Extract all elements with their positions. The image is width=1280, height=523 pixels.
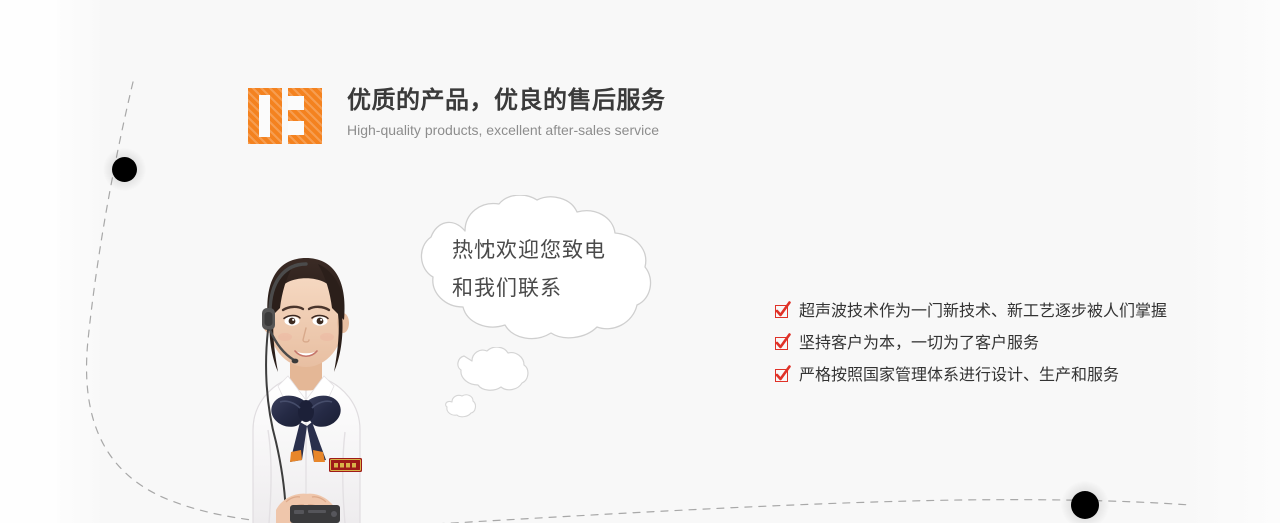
feature-label: 坚持客户为本，一切为了客户服务: [799, 333, 1039, 355]
section-subtitle: High-quality products, excellent after-s…: [347, 121, 666, 139]
section-heading: 优质的产品，优良的售后服务 High-quality products, exc…: [248, 86, 666, 144]
customer-service-operator-photo: [190, 180, 422, 523]
speech-cloud-tail-small: [443, 394, 477, 418]
list-item: 超声波技术作为一门新技术、新工艺逐步被人们掌握: [775, 298, 1215, 325]
list-item: 严格按照国家管理体系进行设计、生产和服务: [775, 362, 1215, 389]
checkbox-check-icon: [775, 337, 788, 350]
background-left-strip: [0, 0, 57, 523]
promo-section: 优质的产品，优良的售后服务 High-quality products, exc…: [0, 0, 1280, 523]
feature-label: 超声波技术作为一门新技术、新工艺逐步被人们掌握: [799, 301, 1167, 323]
checkbox-check-icon: [775, 305, 788, 318]
section-number-digit-0: [248, 88, 282, 144]
feature-label: 严格按照国家管理体系进行设计、生产和服务: [799, 365, 1119, 387]
speech-bubble-text: 热忱欢迎您致电 和我们联系: [452, 232, 606, 308]
speech-cloud-tail-large: [452, 347, 530, 393]
feature-list: 超声波技术作为一门新技术、新工艺逐步被人们掌握 坚持客户为本，一切为了客户服务 …: [775, 298, 1215, 394]
decor-dot-top: [112, 157, 137, 182]
section-number-digit-3: [288, 88, 322, 144]
section-title: 优质的产品，优良的售后服务: [347, 86, 666, 116]
section-number-badge: [248, 88, 322, 144]
decor-dot-bottom: [1071, 491, 1099, 519]
list-item: 坚持客户为本，一切为了客户服务: [775, 330, 1215, 357]
checkbox-check-icon: [775, 369, 788, 382]
